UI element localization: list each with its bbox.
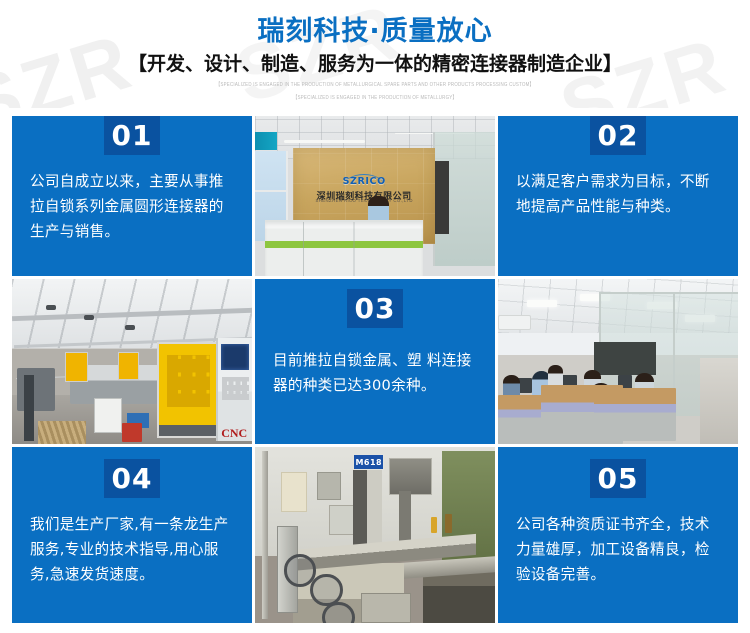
wall-pipe (262, 451, 268, 620)
page-subtitle: 【开发、设计、制造、服务为一体的精密连接器制造企业】 (0, 53, 750, 76)
feature-cell-02: 02 以满足客户需求为目标，不断地提高产品性能与种类。 (498, 116, 738, 276)
red-bin (122, 423, 141, 443)
feature-cell-photo-grinder: M618 (255, 447, 495, 623)
wall-notice (281, 472, 307, 513)
page-header: SZR SZR SZR 瑞刻科技·质量放心 【开发、设计、制造、服务为一体的精密… (0, 0, 750, 108)
machine-dark (17, 368, 55, 411)
wall-board (594, 342, 656, 375)
tool-tray (361, 593, 411, 623)
company-name-en: SHENZHEN RICO TECHNOLOGY CO.,LTD (316, 198, 413, 203)
feature-cell-03: 03 目前推拉自锁金属、塑 料连接器的种类已达300余种。 (255, 279, 495, 444)
number-badge: 05 (590, 459, 646, 498)
feature-text: 我们是生产厂家,有一条龙生产服务,专业的技术指导,用心服务,急速发货速度。 (12, 512, 252, 587)
ceiling-lamp (84, 315, 94, 320)
ceiling-lamp (125, 325, 135, 330)
oil-bottle (431, 517, 437, 533)
office-reception-photo: SZRICO 深圳瑞刻科技有限公司 SHENZHEN RICO TECHNOLO… (255, 116, 495, 276)
machine-model-label: M618 (353, 454, 384, 470)
feature-cell-photo-office (498, 279, 738, 444)
cnc-workshop-photo: CNC (12, 279, 252, 444)
feature-cell-04: 04 我们是生产厂家,有一条龙生产服务,专业的技术指导,用心服务,急速发货速度。 (12, 447, 252, 623)
reception-desk (265, 220, 423, 276)
handwheel (322, 602, 354, 623)
feature-text: 公司自成立以来，主要从事推拉自锁系列金属圆形连接器的生产与销售。 (12, 169, 252, 244)
wood-pallet (38, 421, 86, 444)
control-box-white (94, 398, 122, 433)
feature-text: 目前推拉自锁金属、塑 料连接器的种类已达300余种。 (255, 348, 495, 398)
feature-grid: 01 公司自成立以来，主要从事推拉自锁系列金属圆形连接器的生产与销售。 SZRI… (12, 116, 738, 623)
machine-brand-mark: CNC (221, 426, 247, 441)
number-badge: 01 (104, 116, 160, 155)
open-plan-office-photo (498, 279, 738, 444)
company-logo-text: SZRICO (343, 176, 386, 187)
support-pole (24, 375, 34, 441)
english-tagline-line1: 【SPECIALIZED IS ENGAGED IN THE PRODUCTIO… (0, 80, 750, 90)
grinder-column (353, 459, 382, 547)
english-tagline-line2: 【SPECIALIZED IS ENGAGED IN THE PRODUCTIO… (0, 93, 750, 103)
corridor (700, 358, 738, 444)
doorway (433, 161, 450, 235)
feature-text: 公司各种资质证书齐全，技术力量雄厚，加工设备精良，检验设备完善。 (498, 512, 738, 587)
grinder-head (389, 458, 432, 495)
feature-cell-photo-cnc: CNC (12, 279, 252, 444)
number-badge: 04 (104, 459, 160, 498)
number-badge: 02 (590, 116, 646, 155)
feature-cell-05: 05 公司各种资质证书齐全，技术力量雄厚，加工设备精良，检验设备完善。 (498, 447, 738, 623)
control-box-yellow (118, 352, 139, 380)
ceiling-light (527, 300, 557, 307)
oil-bottle (445, 514, 452, 533)
control-box-yellow (65, 352, 89, 382)
feature-text: 以满足客户需求为目标，不断地提高产品性能与种类。 (498, 169, 738, 219)
ceiling-lamp (46, 305, 56, 310)
cnc-machine-yellow-door (157, 342, 221, 438)
air-conditioner (498, 315, 531, 330)
page-title: 瑞刻科技·质量放心 (0, 16, 750, 47)
surface-grinder-photo: M618 (255, 447, 495, 623)
feature-cell-01: 01 公司自成立以来，主要从事推拉自锁系列金属圆形连接器的生产与销售。 (12, 116, 252, 276)
number-badge: 03 (347, 289, 403, 328)
wall-banner (255, 132, 277, 150)
electrical-box (317, 472, 341, 500)
machine-base (423, 570, 495, 623)
office-desk (594, 388, 676, 441)
feature-cell-photo-reception: SZRICO 深圳瑞刻科技有限公司 SHENZHEN RICO TECHNOLO… (255, 116, 495, 276)
